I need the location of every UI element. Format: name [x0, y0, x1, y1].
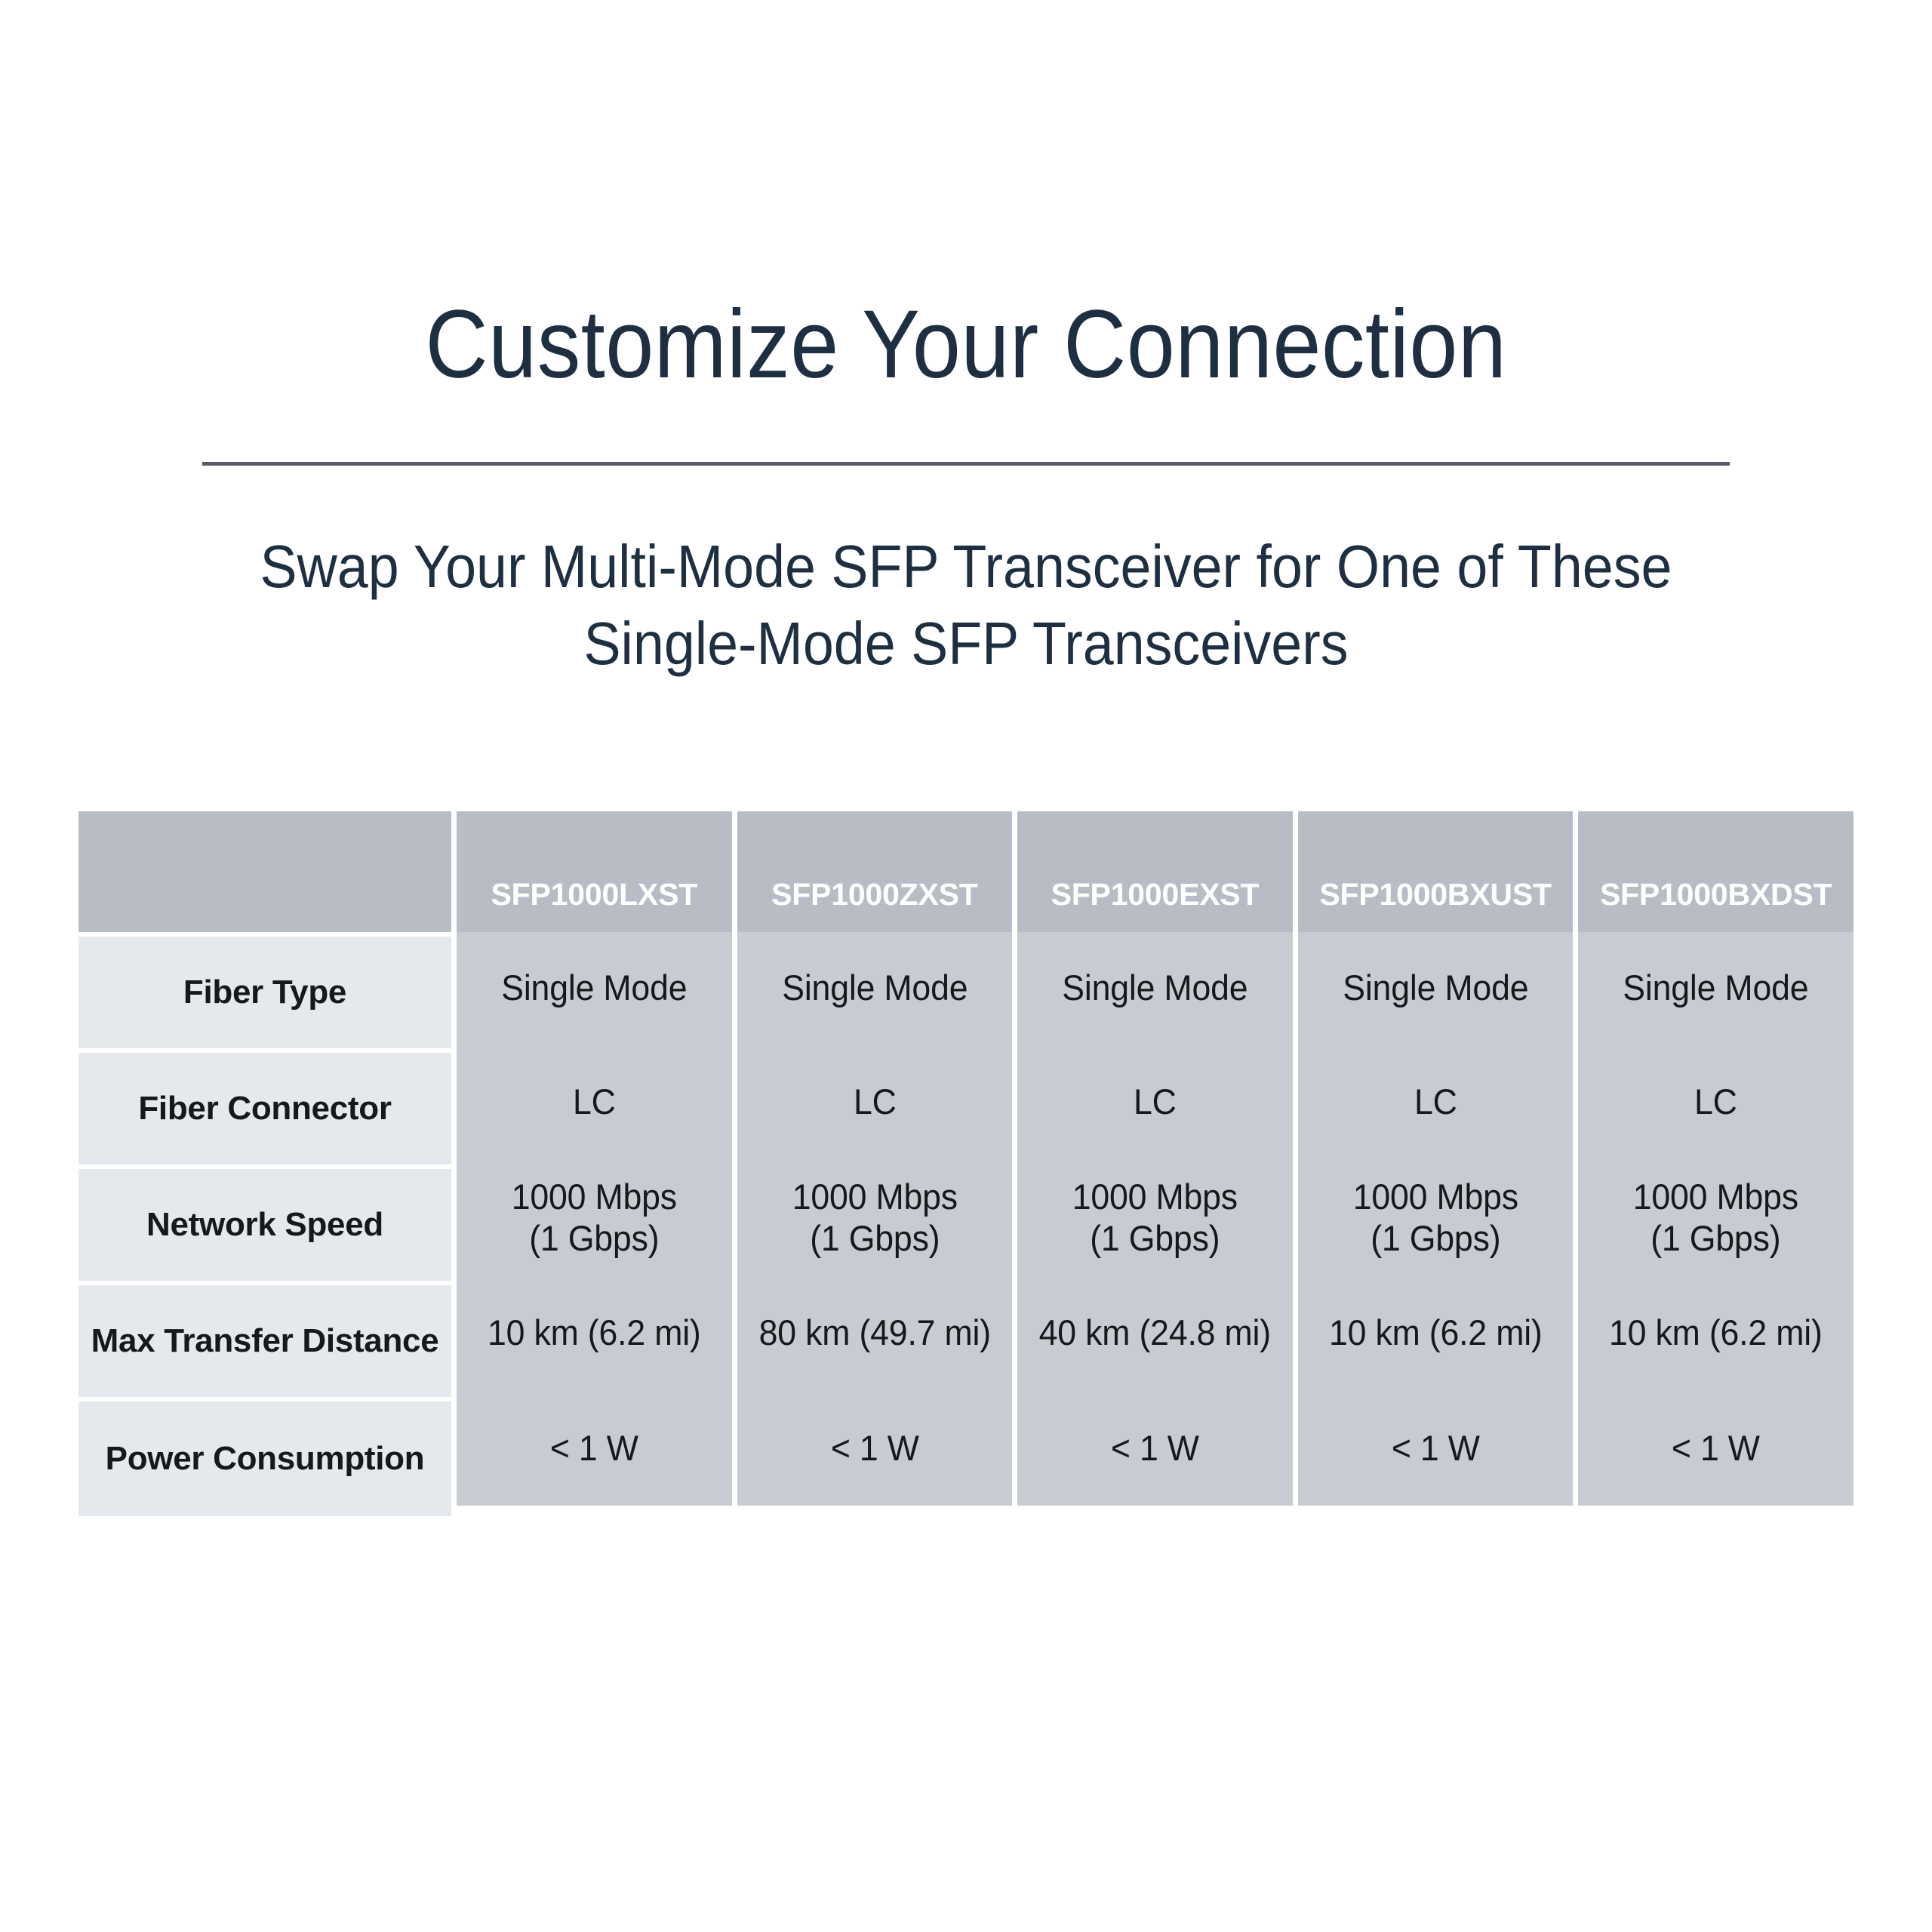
table-header-row: SFP1000LXST SFP1000ZXST SFP1000EXST SFP1… — [78, 811, 1854, 932]
cell-text-line-1: 1000 Mbps — [1352, 1176, 1518, 1217]
data-column-sfp1000lxst: Single Mode LC 1000 Mbps (1 Gbps) 10 km … — [457, 932, 732, 1506]
cell-network-speed: 1000 Mbps (1 Gbps) — [463, 1160, 724, 1275]
cell-text: Single Mode — [1062, 967, 1247, 1008]
column-header-sfp1000bxust: SFP1000BXUST — [1298, 811, 1574, 932]
cell-network-speed: 1000 Mbps (1 Gbps) — [1305, 1160, 1566, 1275]
cell-fiber-connector: LC — [463, 1044, 724, 1160]
row-label-max-transfer-distance: Max Transfer Distance — [78, 1285, 451, 1397]
spec-comparison-table: SFP1000LXST SFP1000ZXST SFP1000EXST SFP1… — [78, 811, 1854, 1516]
cell-fiber-connector: LC — [1024, 1044, 1285, 1160]
cell-text: LC — [1414, 1081, 1457, 1122]
cell-power-consumption: < 1 W — [1305, 1391, 1566, 1506]
data-column-sfp1000bxdst: Single Mode LC 1000 Mbps (1 Gbps) 10 km … — [1578, 932, 1854, 1506]
row-label-column: Fiber Type Fiber Connector Network Speed… — [78, 932, 451, 1516]
cell-max-transfer-distance: 80 km (49.7 mi) — [744, 1275, 1005, 1391]
table-body: Fiber Type Fiber Connector Network Speed… — [78, 932, 1854, 1516]
cell-power-consumption: < 1 W — [744, 1391, 1005, 1506]
page-subtitle: Swap Your Multi-Mode SFP Transceiver for… — [77, 528, 1854, 683]
cell-text: < 1 W — [1111, 1427, 1199, 1469]
page-subtitle-line-2: Single-Mode SFP Transceivers — [77, 605, 1854, 682]
cell-text-line-1: 1000 Mbps — [1633, 1176, 1798, 1217]
cell-text: < 1 W — [1672, 1427, 1760, 1469]
title-divider-rule — [202, 462, 1730, 466]
table-corner-cell — [78, 811, 451, 932]
row-label-network-speed: Network Speed — [78, 1169, 451, 1281]
cell-text-line-1: 1000 Mbps — [512, 1176, 677, 1217]
cell-text-line-2: (1 Gbps) — [1352, 1217, 1518, 1259]
cell-network-speed: 1000 Mbps (1 Gbps) — [1024, 1160, 1285, 1275]
column-header-sfp1000exst: SFP1000EXST — [1017, 811, 1293, 932]
cell-max-transfer-distance: 10 km (6.2 mi) — [1586, 1275, 1847, 1391]
column-header-sfp1000bxdst: SFP1000BXDST — [1578, 811, 1854, 932]
row-label-fiber-connector: Fiber Connector — [78, 1053, 451, 1164]
cell-fiber-type: Single Mode — [1305, 932, 1566, 1044]
cell-text: LC — [1134, 1081, 1177, 1122]
cell-power-consumption: < 1 W — [463, 1391, 724, 1506]
cell-fiber-type: Single Mode — [1586, 932, 1847, 1044]
data-column-sfp1000exst: Single Mode LC 1000 Mbps (1 Gbps) 40 km … — [1017, 932, 1293, 1506]
cell-text: LC — [573, 1081, 616, 1122]
page-title: Customize Your Connection — [97, 0, 1835, 395]
data-column-sfp1000bxust: Single Mode LC 1000 Mbps (1 Gbps) 10 km … — [1298, 932, 1574, 1506]
cell-fiber-connector: LC — [1305, 1044, 1566, 1160]
column-header-sfp1000lxst: SFP1000LXST — [457, 811, 732, 932]
cell-fiber-connector: LC — [744, 1044, 1005, 1160]
cell-text: < 1 W — [1392, 1427, 1480, 1469]
cell-text: LC — [854, 1081, 897, 1122]
cell-text: Single Mode — [1343, 967, 1528, 1008]
header-block: Customize Your Connection Swap Your Mult… — [0, 0, 1932, 395]
cell-text: 80 km (49.7 mi) — [758, 1312, 990, 1353]
cell-text: < 1 W — [550, 1427, 638, 1469]
row-label-fiber-type: Fiber Type — [78, 937, 451, 1048]
cell-text: 40 km (24.8 mi) — [1039, 1312, 1271, 1353]
cell-text: 10 km (6.2 mi) — [1329, 1312, 1543, 1353]
cell-text-line-2: (1 Gbps) — [1072, 1217, 1238, 1259]
cell-max-transfer-distance: 40 km (24.8 mi) — [1024, 1275, 1285, 1391]
cell-fiber-type: Single Mode — [1024, 932, 1285, 1044]
column-header-sfp1000zxst: SFP1000ZXST — [737, 811, 1013, 932]
cell-text: LC — [1694, 1081, 1737, 1122]
cell-text-line-1: 1000 Mbps — [1072, 1176, 1238, 1217]
cell-text: 10 km (6.2 mi) — [488, 1312, 701, 1353]
row-label-power-consumption: Power Consumption — [78, 1401, 451, 1516]
cell-text: < 1 W — [830, 1427, 918, 1469]
cell-text: Single Mode — [1623, 967, 1809, 1008]
cell-text-line-2: (1 Gbps) — [512, 1217, 677, 1259]
cell-text: 10 km (6.2 mi) — [1609, 1312, 1823, 1353]
cell-fiber-type: Single Mode — [744, 932, 1005, 1044]
data-column-sfp1000zxst: Single Mode LC 1000 Mbps (1 Gbps) 80 km … — [737, 932, 1013, 1506]
cell-fiber-connector: LC — [1586, 1044, 1847, 1160]
cell-power-consumption: < 1 W — [1586, 1391, 1847, 1506]
page-root: Customize Your Connection Swap Your Mult… — [0, 0, 1932, 1932]
cell-max-transfer-distance: 10 km (6.2 mi) — [1305, 1275, 1566, 1391]
cell-text-line-2: (1 Gbps) — [792, 1217, 957, 1259]
cell-network-speed: 1000 Mbps (1 Gbps) — [1586, 1160, 1847, 1275]
cell-max-transfer-distance: 10 km (6.2 mi) — [463, 1275, 724, 1391]
cell-text: Single Mode — [782, 967, 968, 1008]
cell-text-line-1: 1000 Mbps — [792, 1176, 957, 1217]
page-subtitle-line-1: Swap Your Multi-Mode SFP Transceiver for… — [77, 528, 1854, 605]
cell-text: Single Mode — [501, 967, 687, 1008]
cell-text-line-2: (1 Gbps) — [1633, 1217, 1798, 1259]
cell-power-consumption: < 1 W — [1024, 1391, 1285, 1506]
cell-fiber-type: Single Mode — [463, 932, 724, 1044]
cell-network-speed: 1000 Mbps (1 Gbps) — [744, 1160, 1005, 1275]
